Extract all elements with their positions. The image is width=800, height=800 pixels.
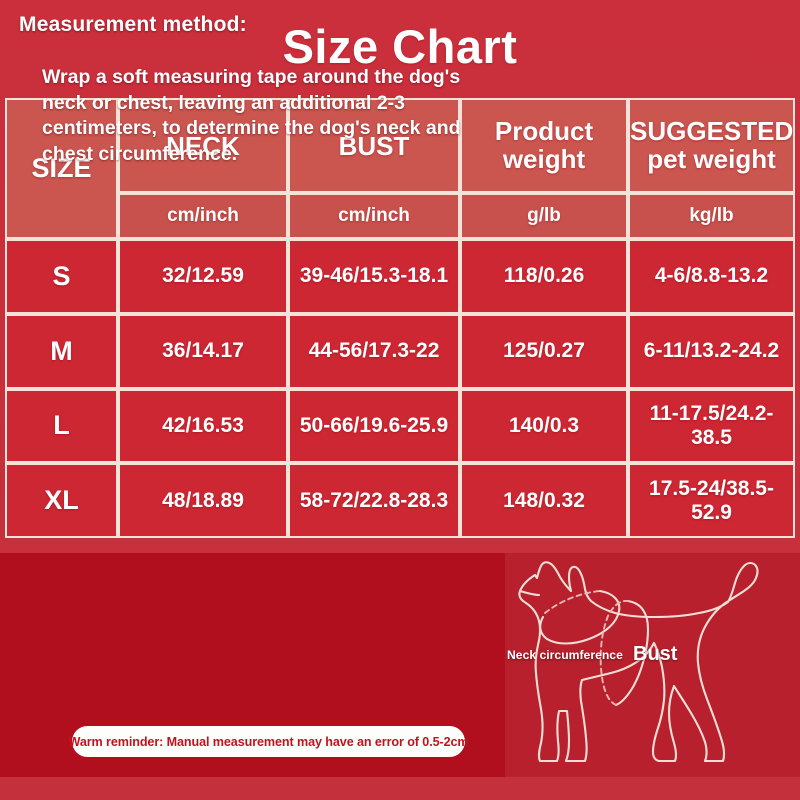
measurement-method-text: Wrap a soft measuring tape around the do…: [42, 65, 492, 167]
header-suggested-line2: pet weight: [630, 146, 793, 174]
unit-product-weight: g/lb: [460, 193, 628, 239]
warm-reminder-text: Warm reminder: Manual measurement may ha…: [69, 735, 469, 749]
cell-neck: 48/18.89: [118, 463, 288, 538]
unit-neck: cm/inch: [118, 193, 288, 239]
table-row: S 32/12.59 39-46/15.3-18.1 118/0.26 4-6/…: [5, 239, 795, 314]
cell-neck: 42/16.53: [118, 389, 288, 464]
cell-neck: 36/14.17: [118, 314, 288, 389]
cell-product-weight: 148/0.32: [460, 463, 628, 538]
cell-bust: 39-46/15.3-18.1: [288, 239, 460, 314]
cell-size: M: [5, 314, 118, 389]
cell-product-weight: 125/0.27: [460, 314, 628, 389]
bust-label: Bust: [633, 643, 677, 666]
unit-suggested-weight: kg/lb: [628, 193, 795, 239]
cell-product-weight: 118/0.26: [460, 239, 628, 314]
cell-neck: 32/12.59: [118, 239, 288, 314]
cell-size: S: [5, 239, 118, 314]
cell-suggested-weight: 17.5-24/38.5-52.9: [628, 463, 795, 538]
cell-bust: 50-66/19.6-25.9: [288, 389, 460, 464]
table-row: M 36/14.17 44-56/17.3-22 125/0.27 6-11/1…: [5, 314, 795, 389]
unit-bust: cm/inch: [288, 193, 460, 239]
cell-suggested-weight: 4-6/8.8-13.2: [628, 239, 795, 314]
cell-size: XL: [5, 463, 118, 538]
warm-reminder-badge: Warm reminder: Manual measurement may ha…: [72, 726, 465, 757]
bottom-strip: [0, 777, 800, 800]
measurement-method-title: Measurement method:: [19, 13, 247, 37]
table-row: L 42/16.53 50-66/19.6-25.9 140/0.3 11-17…: [5, 389, 795, 464]
header-suggested-pet-weight: SUGGESTED pet weight: [628, 98, 795, 193]
table-row: XL 48/18.89 58-72/22.8-28.3 148/0.32 17.…: [5, 463, 795, 538]
header-suggested-line1: SUGGESTED: [630, 118, 793, 146]
cell-size: L: [5, 389, 118, 464]
cell-suggested-weight: 11-17.5/24.2-38.5: [628, 389, 795, 464]
neck-circumference-label: Neck circumference: [507, 648, 623, 662]
cell-bust: 44-56/17.3-22: [288, 314, 460, 389]
cell-product-weight: 140/0.3: [460, 389, 628, 464]
cell-suggested-weight: 6-11/13.2-24.2: [628, 314, 795, 389]
table-unit-row: cm/inch cm/inch g/lb kg/lb: [5, 193, 795, 239]
cell-bust: 58-72/22.8-28.3: [288, 463, 460, 538]
